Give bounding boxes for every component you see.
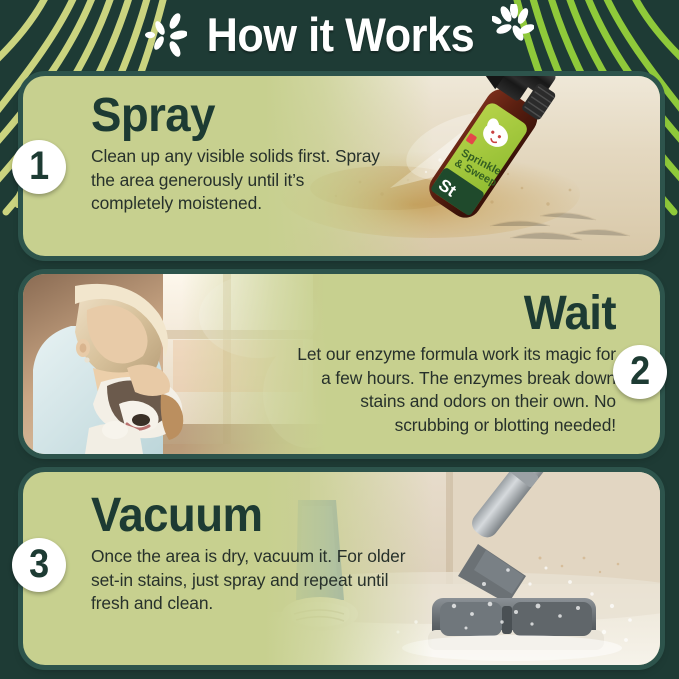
- step-number-badge-3: 3: [12, 538, 66, 592]
- step-2-body: Let our enzyme formula work its magic fo…: [286, 343, 616, 437]
- step-number-badge-2: 2: [613, 345, 667, 399]
- header: How it Works: [0, 0, 679, 68]
- step-1-title: Spray: [91, 90, 376, 142]
- step-1-body: Clean up any visible solids first. Spray…: [91, 145, 391, 216]
- step-2-content: Wait Let our enzyme formula work its mag…: [286, 288, 616, 437]
- page-title: How it Works: [207, 11, 475, 58]
- step-number-badge-1: 1: [12, 140, 66, 194]
- step-card-3: Vacuum Once the area is dry, vacuum it. …: [23, 472, 660, 665]
- sparkle-burst-icon: [492, 4, 534, 52]
- sparkle-burst-icon: [145, 11, 187, 59]
- step-3-title: Vacuum: [91, 490, 395, 542]
- step-2-title: Wait: [303, 288, 617, 340]
- step-number-3: 3: [29, 544, 49, 584]
- step-3-content: Vacuum Once the area is dry, vacuum it. …: [91, 490, 411, 616]
- step-number-1: 1: [29, 146, 49, 186]
- step-number-2: 2: [630, 351, 650, 391]
- step-card-2: Wait Let our enzyme formula work its mag…: [23, 274, 660, 454]
- step-3-body: Once the area is dry, vacuum it. For old…: [91, 545, 411, 616]
- step-card-1: Sprinkle & Sweep St Spray Clean up any v…: [23, 76, 660, 256]
- step-1-content: Spray Clean up any visible solids first.…: [91, 90, 391, 216]
